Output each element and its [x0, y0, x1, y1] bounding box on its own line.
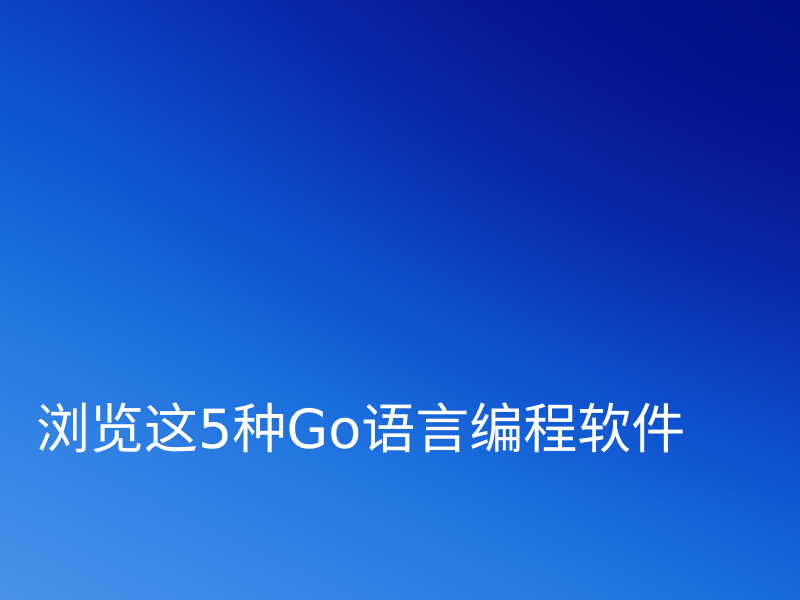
headline-line-1: 浏览这5种Go语言编程软件	[36, 394, 776, 466]
headline-title: 浏览这5种Go语言编程软件 ，轻松提升编程效率	[36, 250, 776, 600]
banner-card: 浏览这5种Go语言编程软件 ，轻松提升编程效率	[0, 0, 800, 600]
